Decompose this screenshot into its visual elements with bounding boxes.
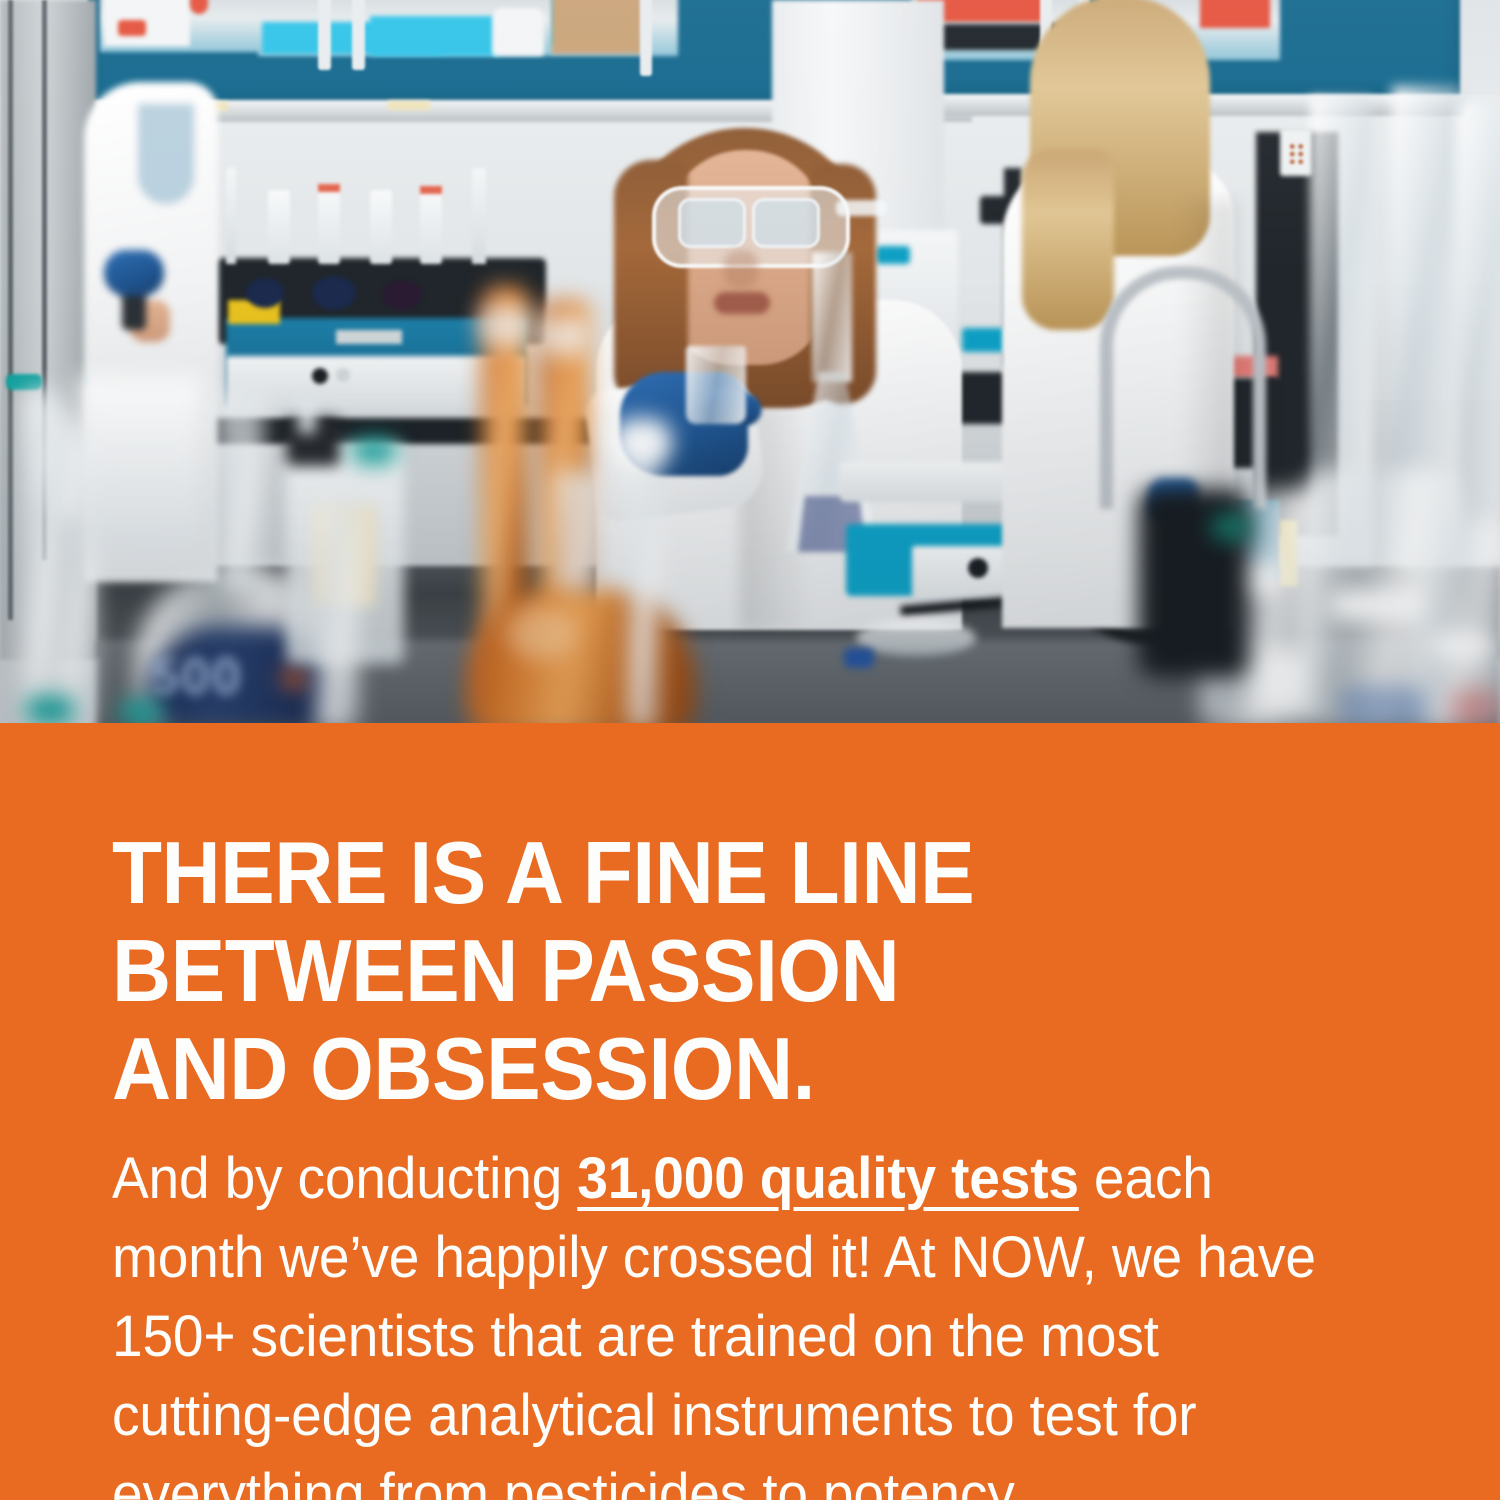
foreground-teal-cap-c bbox=[352, 438, 396, 464]
erlenmeyer-flask-center bbox=[786, 252, 878, 552]
foreground-reagent-bottle-neck bbox=[298, 398, 316, 434]
instrument-knob-b bbox=[336, 368, 350, 382]
goggle-lens-right bbox=[752, 198, 820, 248]
bench-instrument-knob bbox=[968, 558, 988, 578]
outlet-dots bbox=[1288, 142, 1305, 164]
cabinet-handle-b bbox=[352, 0, 365, 70]
cabinet-handle-c bbox=[640, 0, 652, 76]
cabinet-contents-bottle bbox=[492, 8, 544, 56]
rack-vial-dark-b bbox=[312, 276, 356, 310]
foreground-flask-navy-orange-fleck bbox=[282, 668, 306, 688]
foreground-graduated-cylinder bbox=[316, 500, 360, 723]
rack-vial-dark-c bbox=[382, 280, 422, 310]
cabinet-contents-white bbox=[104, 0, 190, 46]
foreground-burette-cap-b bbox=[538, 316, 592, 356]
bench-blue-cap bbox=[844, 648, 874, 668]
instrument-knob-a bbox=[312, 368, 328, 384]
orange-message-panel: THERE IS A FINE LINE BETWEEN PASSION AND… bbox=[0, 723, 1500, 1500]
foreground-pipette-d-tip bbox=[612, 418, 672, 466]
door-frame-seam-a bbox=[8, 0, 13, 620]
cabinet-contents-carton bbox=[552, 0, 642, 54]
foreground-teal-cap-b bbox=[120, 700, 162, 723]
cabinet-contents-red-a bbox=[118, 20, 146, 36]
goggle-strap bbox=[836, 200, 886, 216]
bench-petri-dish bbox=[856, 620, 976, 656]
scientist-left-collar bbox=[138, 104, 194, 204]
promo-graphic: 500 bbox=[0, 0, 1500, 1500]
scientist-center-mouth bbox=[714, 292, 770, 314]
body-copy-lead: And by conducting bbox=[112, 1146, 577, 1211]
page-title: THERE IS A FINE LINE BETWEEN PASSION AND… bbox=[112, 824, 1321, 1118]
instrument-teal-badge bbox=[876, 246, 910, 264]
laboratory-photo: 500 bbox=[0, 0, 1500, 723]
foreground-teal-fleck-right bbox=[1212, 514, 1252, 540]
rack-vial-dark-a bbox=[246, 278, 284, 308]
body-copy: And by conducting 31,000 quality tests e… bbox=[112, 1139, 1319, 1500]
foreground-teal-cap-a bbox=[26, 696, 74, 723]
test-tube-group bbox=[222, 168, 542, 268]
nitrile-glove-left bbox=[104, 250, 164, 296]
cabinet-handle-a bbox=[318, 0, 331, 70]
cabinet-contents-red-d bbox=[1200, 0, 1270, 28]
beaker-held bbox=[686, 346, 746, 424]
scientist-right-hair-fall bbox=[1022, 150, 1114, 330]
foreground-pipette-d bbox=[628, 440, 658, 723]
goggle-lens-left bbox=[678, 198, 746, 248]
instrument-display-left bbox=[336, 330, 402, 344]
scientist-center-nose-shadow bbox=[724, 250, 758, 288]
foreground-flask-amber-neck bbox=[556, 470, 600, 590]
foreground-burette-cap-a bbox=[480, 306, 532, 346]
cabinet-contents-blue-b bbox=[370, 16, 500, 56]
shelf-tape-b bbox=[388, 101, 430, 110]
quality-tests-stat: 31,000 quality tests bbox=[577, 1146, 1079, 1211]
